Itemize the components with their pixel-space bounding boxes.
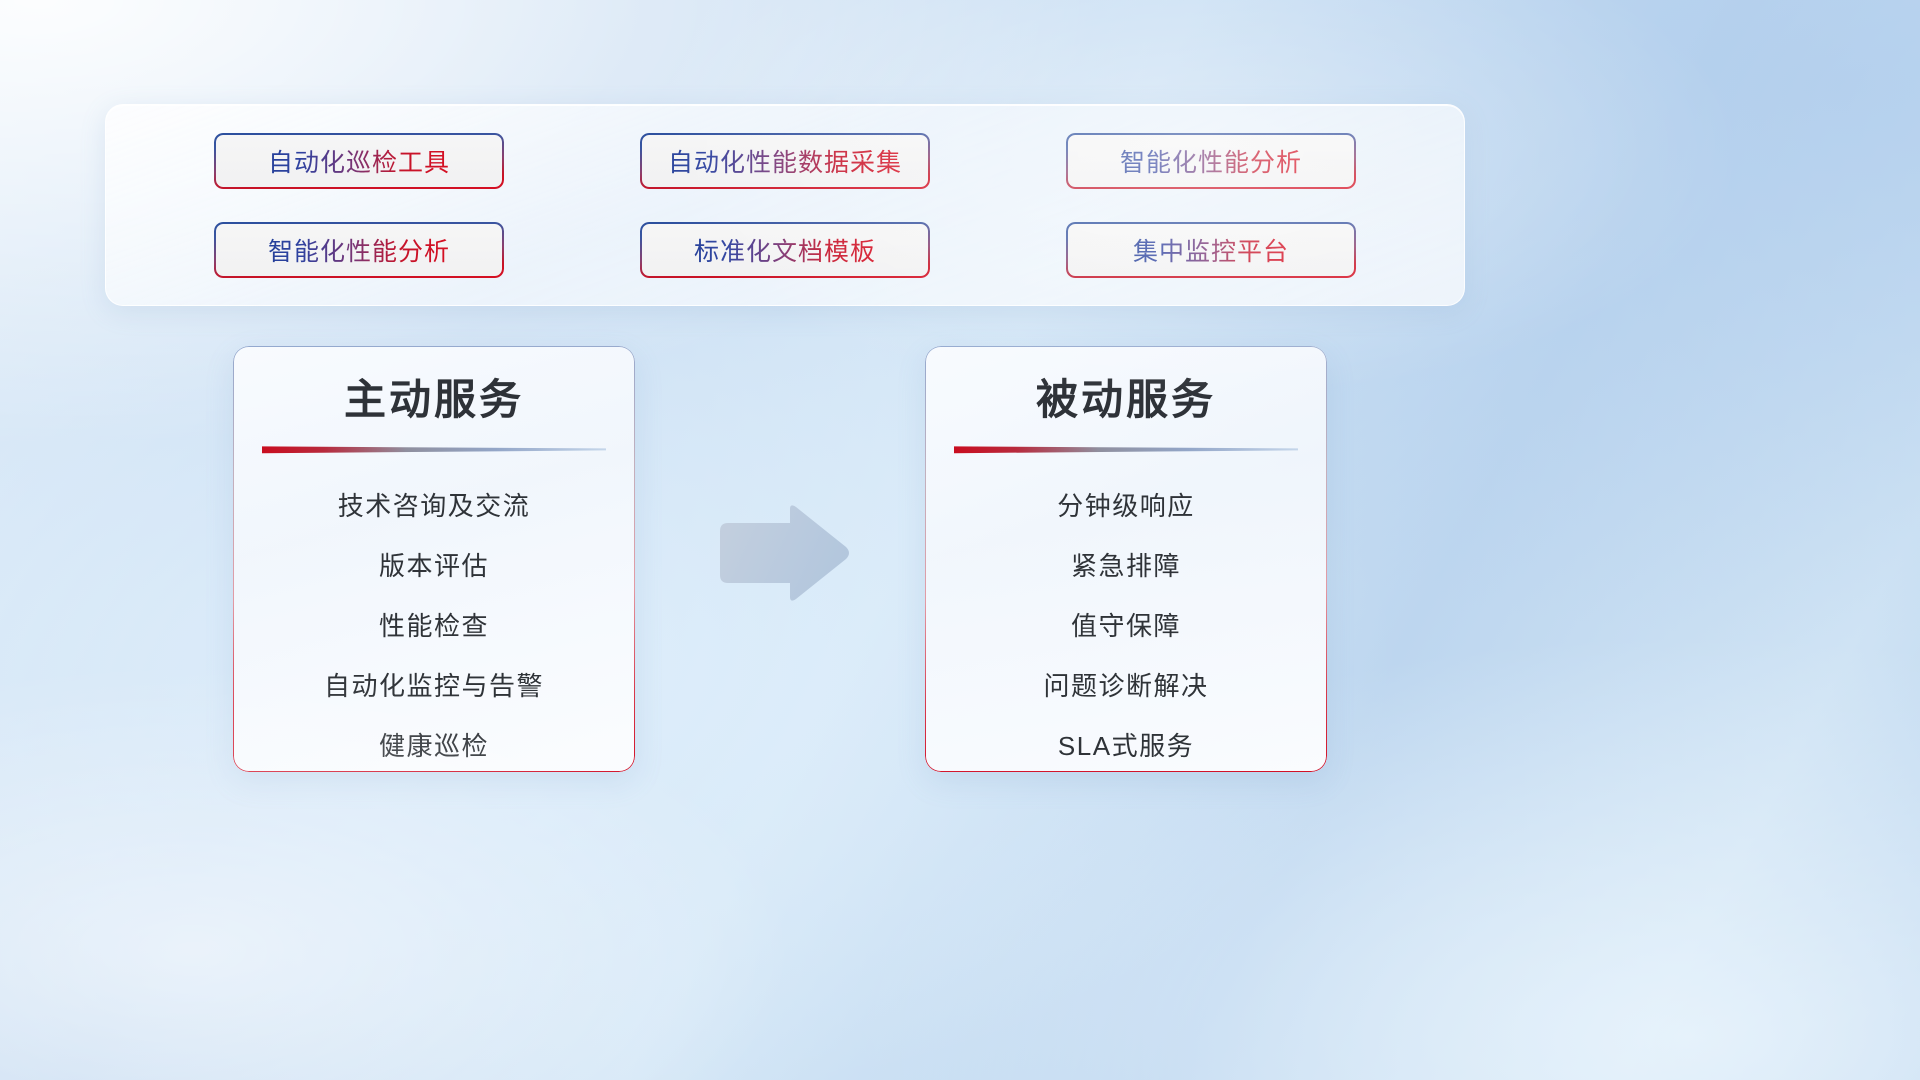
capability-tag-label: 集中监控平台	[1133, 232, 1289, 268]
service-card-active[interactable]: 主动服务 技术咨询及交流 版本评估 性能检查 自动化监控与告警	[233, 346, 635, 772]
service-list-item[interactable]: 自动化监控与告警	[233, 656, 635, 716]
capability-tag-4[interactable]: 标准化文档模板	[640, 222, 930, 278]
service-card-passive[interactable]: 被动服务 分钟级响应 紧急排障 值守保障 问题诊断解决	[925, 346, 1327, 772]
capability-tag-2[interactable]: 智能化性能分析	[1066, 133, 1356, 189]
capability-tag-label: 标准化文档模板	[694, 232, 876, 268]
capability-tag-5[interactable]: 集中监控平台	[1066, 222, 1356, 278]
card-divider	[262, 445, 606, 454]
capability-tag-label: 智能化性能分析	[1120, 143, 1302, 179]
service-card-title: 被动服务	[925, 374, 1327, 427]
service-list-item[interactable]: 值守保障	[925, 596, 1327, 656]
capability-tag-1[interactable]: 自动化性能数据采集	[640, 133, 930, 189]
service-list-item[interactable]: 性能检查	[233, 596, 635, 656]
service-card-title: 主动服务	[233, 374, 635, 427]
capability-tag-panel: 自动化巡检工具 自动化性能数据采集 智能化性能分析 智能化性能分析 标准化文档模…	[105, 104, 1465, 306]
service-list-item[interactable]: 紧急排障	[925, 536, 1327, 596]
capability-tag-0[interactable]: 自动化巡检工具	[214, 133, 504, 189]
service-list-item[interactable]: 分钟级响应	[925, 476, 1327, 536]
capability-tag-3[interactable]: 智能化性能分析	[214, 222, 504, 278]
service-list-item[interactable]: SLA式服务	[925, 716, 1327, 776]
arrow-right-icon	[712, 503, 852, 603]
service-list-item[interactable]: 版本评估	[233, 536, 635, 596]
card-divider	[954, 445, 1298, 454]
capability-tag-label: 自动化性能数据采集	[668, 143, 902, 179]
capability-tag-label: 智能化性能分析	[268, 232, 450, 268]
service-item-list: 技术咨询及交流 版本评估 性能检查 自动化监控与告警 健康巡检	[233, 476, 635, 776]
slide-canvas: 自动化巡检工具 自动化性能数据采集 智能化性能分析 智能化性能分析 标准化文档模…	[0, 0, 1920, 1080]
service-list-item[interactable]: 技术咨询及交流	[233, 476, 635, 536]
capability-tag-label: 自动化巡检工具	[268, 143, 450, 179]
service-item-list: 分钟级响应 紧急排障 值守保障 问题诊断解决 SLA式服务	[925, 476, 1327, 776]
service-list-item[interactable]: 问题诊断解决	[925, 656, 1327, 716]
service-list-item[interactable]: 健康巡检	[233, 716, 635, 776]
